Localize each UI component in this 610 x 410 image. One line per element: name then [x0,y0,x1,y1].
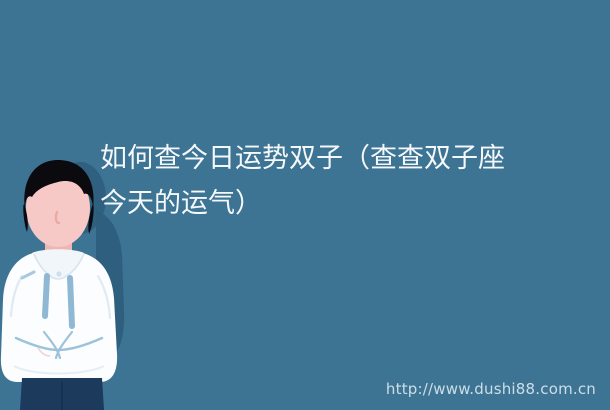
drawstring-eyelet [56,271,61,276]
page-title: 如何查今日运势双子（查查双子座 今天的运气） [100,136,540,226]
drawstring-left [45,276,47,316]
source-watermark: http://www.dushi88.com.cn [386,380,596,398]
banner-image: 如何查今日运势双子（查查双子座 今天的运气） http://www.dushi8… [0,0,610,410]
title-line-2: 今天的运气） [100,181,540,226]
title-line-1: 如何查今日运势双子（查查双子座 [100,136,540,181]
drawstring-right [70,278,72,326]
